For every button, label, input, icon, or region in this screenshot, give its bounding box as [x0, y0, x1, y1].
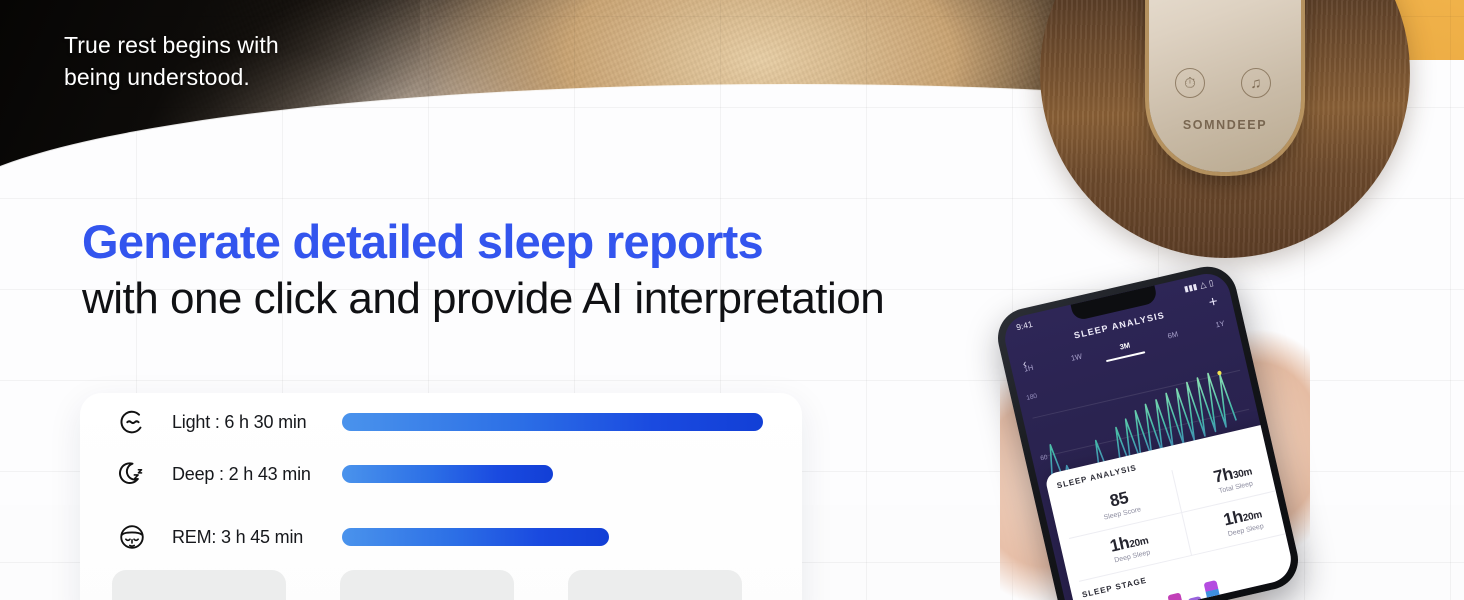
metric-value-2: 1h [1108, 533, 1131, 556]
sleep-stats-card: Light : 6 h 30 min Deep : 2 h 43 min [80, 393, 802, 600]
tab-6m[interactable]: 6M [1167, 329, 1179, 340]
action-button-2[interactable] [340, 570, 514, 600]
action-button-1[interactable] [112, 570, 286, 600]
stage-bar [1188, 596, 1207, 600]
page-title: Generate detailed sleep reports with one… [82, 216, 884, 323]
tab-3m[interactable]: 3M [1119, 341, 1131, 352]
metric-value-0: 85 [1108, 488, 1130, 511]
tab-1w[interactable]: 1W [1070, 352, 1083, 363]
stat-label-deep: Deep : 2 h 43 min [172, 464, 342, 485]
crescent-moon-cloud-icon [112, 402, 152, 442]
bar-track-light [342, 413, 772, 431]
signal-icon: ▮▮▮ [1183, 281, 1198, 293]
hero-tagline-line1: True rest begins with [64, 30, 279, 62]
metric-value-3: 1h [1222, 507, 1245, 530]
metric-unit-2: 20m [1128, 535, 1149, 550]
stat-label-light: Light : 6 h 30 min [172, 412, 342, 433]
crescent-moon-zzz-icon [112, 454, 152, 494]
stage-bar [1167, 592, 1187, 600]
stat-row-deep: Deep : 2 h 43 min [112, 454, 772, 494]
device-product-circle: ⏱ ♫ SOMNDEEP [1040, 0, 1410, 258]
bar-track-rem [342, 528, 772, 546]
metric-unit-1: 30m [1232, 466, 1253, 481]
action-button-strip [112, 570, 742, 600]
stage-bar [1204, 580, 1225, 600]
stat-row-rem: REM: 3 h 45 min [112, 517, 772, 557]
action-button-3[interactable] [568, 570, 742, 600]
headline-line-2: with one click and provide AI interpreta… [82, 275, 884, 323]
status-time: 9:41 [1015, 319, 1033, 332]
bar-fill-light [342, 413, 763, 431]
metric-value-1: 7h [1212, 464, 1235, 487]
bar-fill-rem [342, 528, 609, 546]
alarm-clock-icon: ⏱ [1175, 68, 1205, 98]
stat-row-light: Light : 6 h 30 min [112, 402, 772, 442]
phone-mockup: 9:41 ▮▮▮ △ ▯ SLEEP ANALYSIS ‹ + 1H 1W 3M… [1006, 284, 1306, 600]
y-label-1: 60 [1040, 453, 1052, 462]
y-label-0: 180 [1026, 393, 1038, 402]
status-icons: ▮▮▮ △ ▯ [1183, 278, 1214, 293]
sleeping-face-icon [112, 517, 152, 557]
tab-1h[interactable]: 1H [1023, 363, 1034, 374]
promo-banner: True rest begins with being understood. … [0, 0, 1464, 600]
bar-fill-deep [342, 465, 553, 483]
wifi-icon: △ [1199, 279, 1207, 289]
device-brand-label: SOMNDEEP [1149, 118, 1301, 132]
battery-icon: ▯ [1208, 278, 1214, 288]
hero-tagline-line2: being understood. [64, 62, 279, 94]
metric-unit-3: 20m [1242, 509, 1263, 524]
music-note-icon: ♫ [1241, 68, 1271, 98]
stat-label-rem: REM: 3 h 45 min [172, 527, 342, 548]
headline-line-1: Generate detailed sleep reports [82, 216, 884, 267]
bar-track-deep [342, 465, 772, 483]
device-body: ⏱ ♫ SOMNDEEP [1149, 0, 1301, 172]
tab-1y[interactable]: 1Y [1215, 319, 1226, 330]
hero-tagline: True rest begins with being understood. [64, 30, 279, 93]
metrics-grid: 85 Sleep Score 7h30m Total Sleep 1h20m D… [1059, 444, 1295, 582]
